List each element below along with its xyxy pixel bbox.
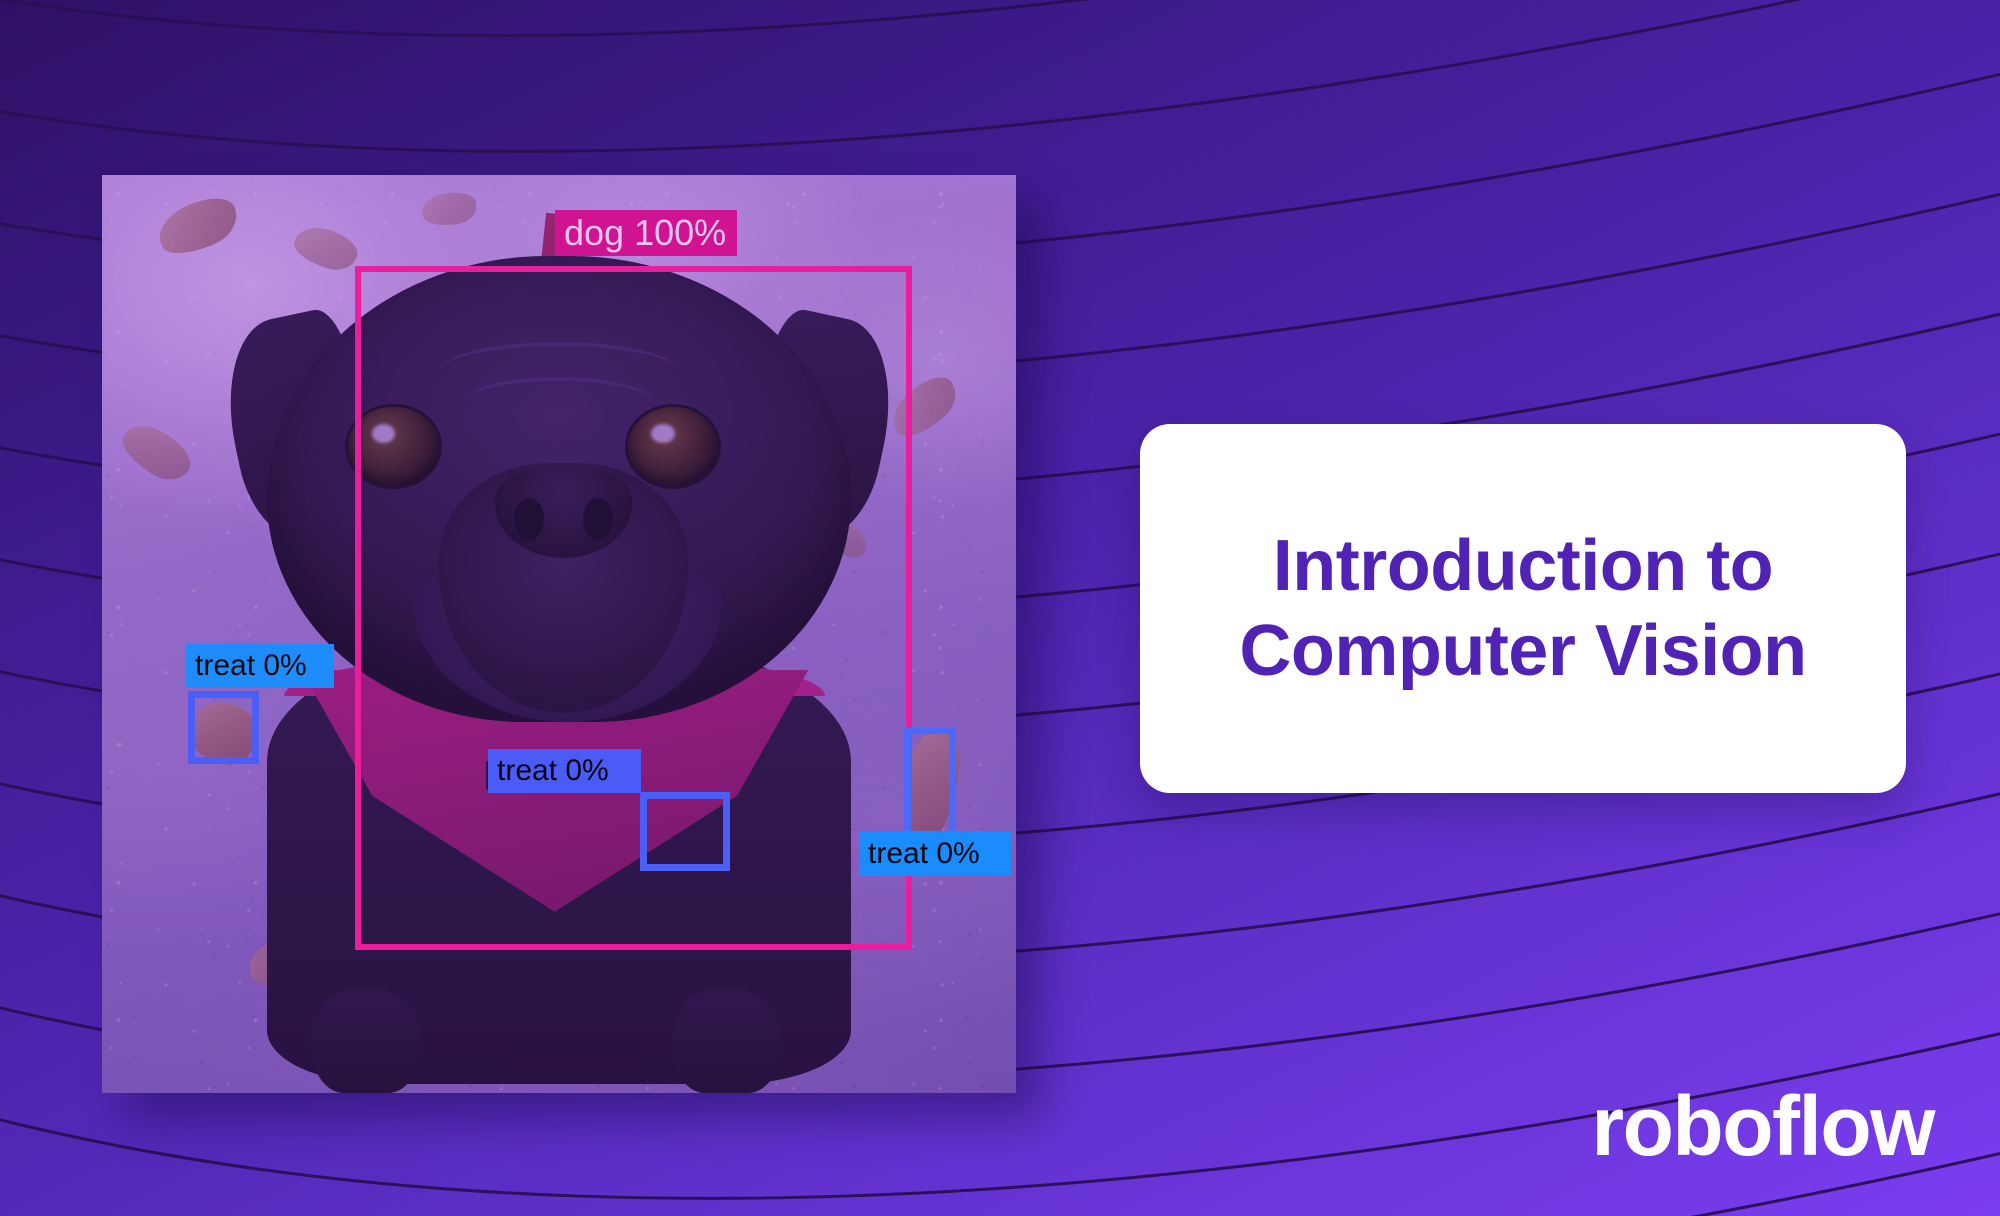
dog-detection-label: dog 100%: [555, 210, 737, 256]
title-line-2: Computer Vision: [1239, 611, 1806, 691]
dog-detection-box[interactable]: [355, 266, 912, 950]
title-card: Introduction to Computer Vision: [1140, 424, 1906, 793]
treat-detection-3-label: treat 0%: [859, 831, 1011, 876]
page-title: Introduction to Computer Vision: [1203, 524, 1842, 694]
treat-detection-1-box[interactable]: [188, 691, 259, 764]
treat-detection-2-label: treat 0%: [488, 749, 641, 793]
treat-detection-2-box[interactable]: [640, 792, 730, 871]
treat-detection-1-label: treat 0%: [186, 644, 334, 688]
title-line-1: Introduction to: [1273, 526, 1773, 606]
detections-layer: dog 100%treat 0%treat 0%treat 0%: [102, 175, 1016, 1093]
roboflow-logo: roboflow: [1591, 1084, 1934, 1168]
detection-image-panel: PUPPIA dog 100%treat 0%treat 0%treat 0%: [102, 175, 1016, 1093]
